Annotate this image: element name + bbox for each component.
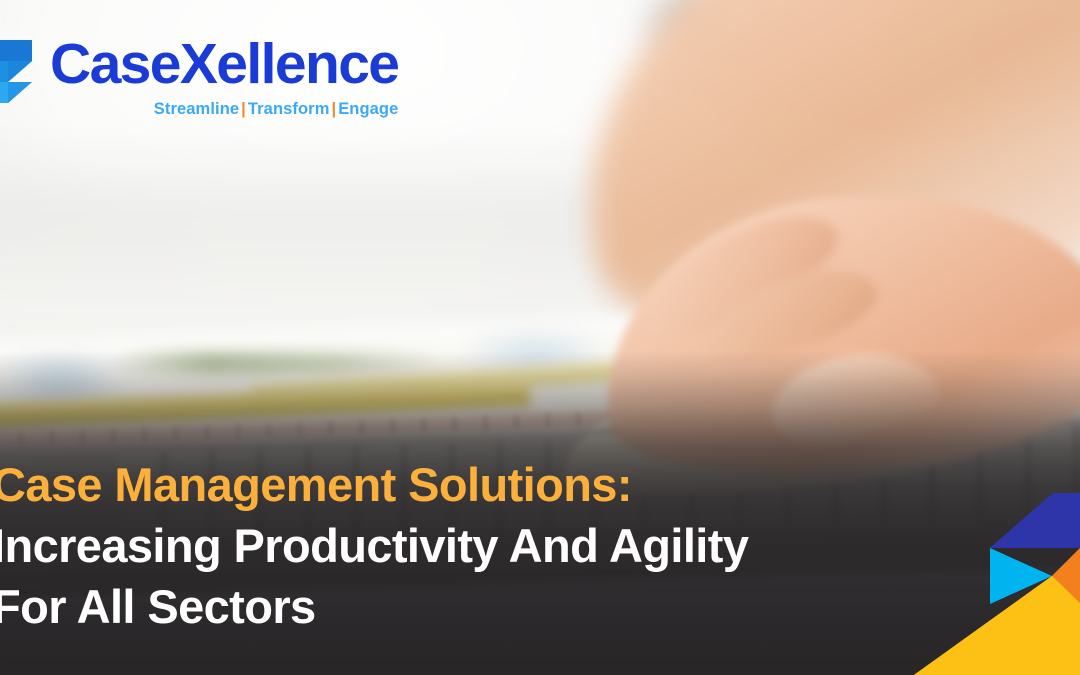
brand-name-x: X [180, 32, 216, 96]
brand-logo[interactable]: CaseXellence Streamline|Transform|Engage [0, 36, 398, 119]
headline-line-2: Increasing Productivity And Agility [0, 515, 892, 576]
tagline-streamline: Streamline [154, 100, 239, 118]
brand-wordmark: CaseXellence Streamline|Transform|Engage [50, 36, 398, 119]
hero-banner: CaseXellence Streamline|Transform|Engage… [0, 0, 1080, 675]
brand-name-part3: ellence [216, 32, 398, 96]
tagline-separator-2: | [329, 100, 338, 118]
hero-headline: Case Management Solutions: Increasing Pr… [0, 454, 892, 637]
chevron-stack-logo-mark-icon [0, 40, 42, 118]
tagline-engage: Engage [338, 100, 398, 118]
brand-tagline: Streamline|Transform|Engage [50, 100, 398, 119]
headline-line-3: For All Sectors [0, 576, 892, 637]
headline-line-1: Case Management Solutions: [0, 454, 892, 515]
tagline-transform: Transform [248, 100, 330, 118]
tagline-separator-1: | [239, 100, 248, 118]
brand-name: CaseXellence [50, 36, 398, 93]
brand-name-part1: Case [50, 32, 180, 96]
corner-geometric-decoration [914, 493, 1080, 675]
